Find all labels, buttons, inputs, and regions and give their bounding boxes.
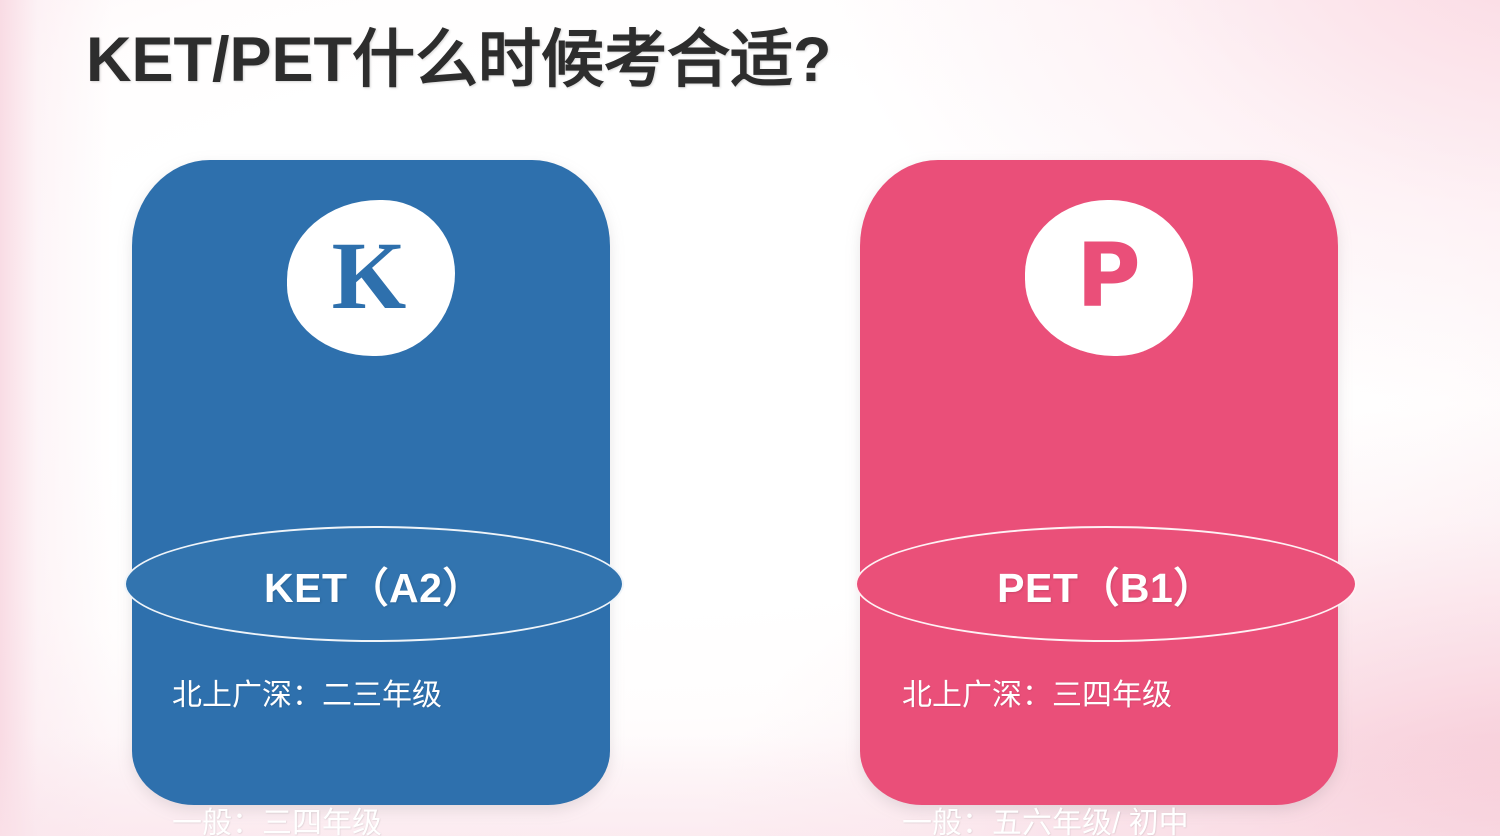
card-pet: P PET（B1） 北上广深：三四年级 一般：五六年级/ 初中 [860,160,1338,805]
ket-level-pill: KET（A2） [124,526,624,642]
pet-letter-blob-icon: P [1025,200,1193,356]
pet-detail-line-1: 北上广深：三四年级 [902,678,1310,714]
pet-detail-list: 北上广深：三四年级 一般：五六年级/ 初中 [902,678,1310,836]
ket-letter-blob-icon: K [287,200,455,356]
ket-detail-line-1: 北上广深：二三年级 [172,678,582,714]
ket-level-label: KET（A2） [264,554,484,614]
ket-detail-line-2: 一般：三四年级 [172,806,582,836]
pet-detail-line-2: 一般：五六年级/ 初中 [902,806,1310,836]
slide-root: KET/PET什么时候考合适? K KET（A2） 北上广深：二三年级 一般：三… [0,0,1500,836]
card-ket: K KET（A2） 北上广深：二三年级 一般：三四年级 [132,160,610,805]
ket-badge-letter: K [332,228,407,324]
pet-level-label: PET（B1） [997,554,1215,614]
pet-badge-letter: P [1076,232,1141,320]
pet-level-pill: PET（B1） [855,526,1357,642]
page-title: KET/PET什么时候考合适? [86,24,832,96]
ket-detail-list: 北上广深：二三年级 一般：三四年级 [172,678,582,836]
